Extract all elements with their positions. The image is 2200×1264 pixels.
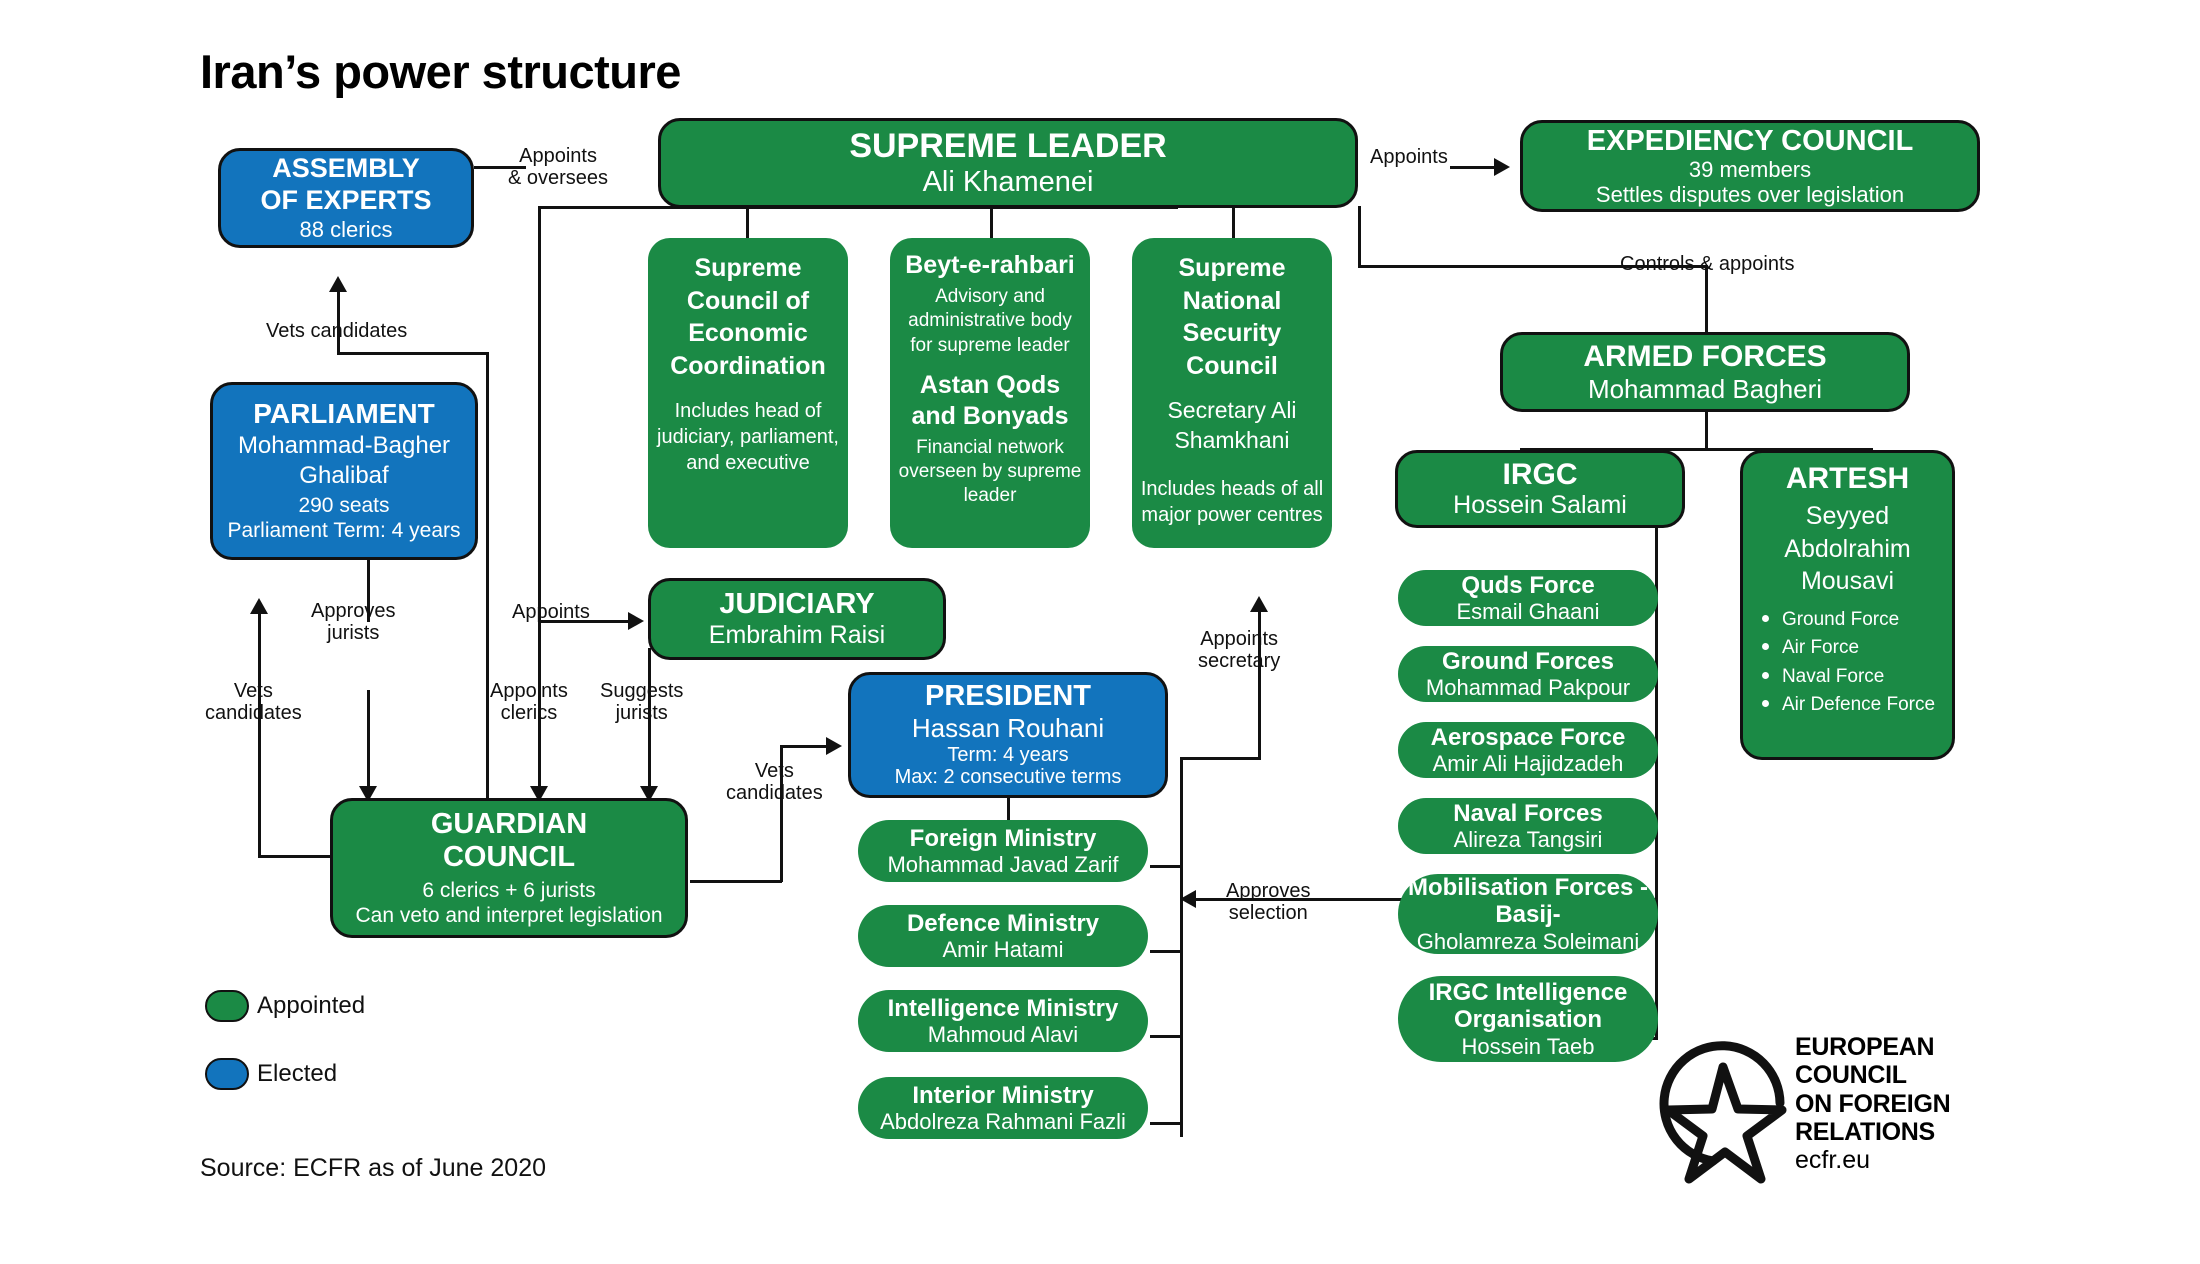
edge-line (1180, 757, 1183, 1137)
node-name: Embrahim Raisi (709, 622, 885, 649)
edge-label-appoints-expediency: Appoints (1370, 146, 1448, 168)
edge-arrow (1494, 158, 1510, 176)
node-title: Ground Forces (1442, 648, 1614, 676)
artesh-branch-item: Ground Force (1760, 606, 1935, 635)
node-name: Alireza Tangsiri (1454, 827, 1603, 852)
source-note: Source: ECFR as of June 2020 (200, 1154, 546, 1183)
node-detail-max: Max: 2 consecutive terms (895, 767, 1122, 789)
edge-arrow (329, 276, 347, 292)
node-name: Amir Hatami (942, 937, 1063, 962)
node-ministry[interactable]: Foreign MinistryMohammad Javad Zarif (858, 820, 1148, 882)
edge-line (746, 206, 749, 238)
node-title: JUDICIARY (719, 589, 874, 620)
edge-arrow (1250, 596, 1268, 612)
node-supreme-council-economic-coordination[interactable]: Supreme Council of Economic Coordination… (648, 238, 848, 548)
edge-arrow (628, 612, 644, 630)
edge-label-approves-jurists: Approvesjurists (311, 600, 396, 645)
node-title: Intelligence Ministry (888, 995, 1119, 1023)
edge-arrow (250, 598, 268, 614)
artesh-branch-item: Air Force (1760, 634, 1935, 663)
edge-line (1180, 757, 1260, 760)
node-title-secondary: Astan Qods and Bonyads (896, 370, 1084, 433)
edge-label-controls-appoints: Controls & appoints (1620, 253, 1795, 275)
node-name: Esmail Ghaani (1456, 599, 1599, 624)
edge-line (1150, 1035, 1182, 1038)
node-irgc-unit[interactable]: IRGC Intelligence OrganisationHossein Ta… (1398, 976, 1658, 1062)
node-detail-composition: 6 clerics + 6 jurists (422, 880, 595, 903)
node-irgc-unit[interactable]: Naval ForcesAlireza Tangsiri (1398, 798, 1658, 854)
edge-arrow (1180, 890, 1196, 908)
node-armed-forces[interactable]: ARMED FORCES Mohammad Bagheri (1500, 332, 1910, 412)
node-supreme-leader[interactable]: SUPREME LEADER Ali Khamenei (658, 118, 1358, 208)
node-judiciary[interactable]: JUDICIARY Embrahim Raisi (648, 578, 946, 660)
edge-label-vets-candidates-assembly: Vets candidates (266, 320, 407, 342)
node-detail-term: Term: 4 years (947, 745, 1068, 767)
node-title: IRGC (1503, 459, 1578, 491)
edge-line (367, 690, 370, 790)
node-title: Supreme Council of Economic Coordination (656, 252, 840, 382)
node-name: Abdolreza Rahmani Fazli (880, 1109, 1126, 1134)
node-title: ARMED FORCES (1583, 341, 1826, 373)
node-title: IRGC Intelligence Organisation (1406, 979, 1650, 1034)
edge-line (1705, 282, 1708, 332)
legend-item-elected: Elected (205, 1058, 337, 1090)
ecfr-wordmark: EUROPEAN COUNCIL ON FOREIGN RELATIONS ec… (1795, 1033, 1950, 1174)
edge-label-appoints-oversees: Appoints& oversees (508, 145, 608, 190)
node-name: Mohammad-Bagher Ghalibaf (213, 431, 475, 491)
ecfr-logo: EUROPEAN COUNCIL ON FOREIGN RELATIONS ec… (1655, 1025, 1985, 1200)
node-name: Mohammad Javad Zarif (887, 852, 1118, 877)
ecfr-url: ecfr.eu (1795, 1146, 1950, 1174)
node-title: Supreme National Security Council (1136, 252, 1328, 382)
node-ministry[interactable]: Intelligence MinistryMahmoud Alavi (858, 990, 1148, 1052)
node-name: Mohammad Bagheri (1588, 375, 1822, 403)
edge-label-approves-selection: Approvesselection (1226, 880, 1311, 925)
node-irgc-unit[interactable]: Aerospace ForceAmir Ali Hajidzadeh (1398, 722, 1658, 778)
node-title: PRESIDENT (925, 681, 1091, 712)
edge-line (990, 206, 993, 238)
node-beyt-e-rahbari[interactable]: Beyt-e-rahbari Advisory and administrati… (890, 238, 1090, 548)
ecfr-star-circle-icon (1655, 1025, 1795, 1185)
edge-label-appoints-secretary: Appointssecretary (1198, 628, 1280, 673)
artesh-branch-item: Naval Force (1760, 663, 1935, 692)
node-name: Mahmoud Alavi (928, 1022, 1078, 1047)
page-title: Iran’s power structure (200, 44, 681, 99)
node-irgc-unit[interactable]: Mobilisation Forces -Basij-Gholamreza So… (1398, 874, 1658, 954)
node-supreme-national-security-council[interactable]: Supreme National Security Council Secret… (1132, 238, 1332, 548)
node-title: EXPEDIENCY COUNCIL (1587, 126, 1914, 157)
node-title: SUPREME LEADER (849, 128, 1166, 165)
node-artesh[interactable]: ARTESH Seyyed Abdolrahim Mousavi Ground … (1740, 450, 1955, 760)
node-irgc[interactable]: IRGC Hossein Salami (1395, 450, 1685, 528)
edge-line (690, 880, 782, 883)
legend-item-appointed: Appointed (205, 990, 365, 1022)
artesh-branch-list: Ground ForceAir ForceNaval ForceAir Defe… (1760, 606, 1935, 720)
node-title: Quds Force (1461, 572, 1594, 600)
node-detail-members: 39 members (1689, 158, 1811, 182)
legend-swatch-elected (205, 1058, 249, 1090)
edge-line (1358, 206, 1361, 268)
legend-swatch-appointed (205, 990, 249, 1022)
ecfr-line4: RELATIONS (1795, 1118, 1950, 1146)
artesh-branch-item: Air Defence Force (1760, 691, 1935, 720)
node-title-line2: COUNCIL (443, 842, 575, 873)
node-title-line1: ASSEMBLY (272, 154, 420, 183)
legend-label-appointed: Appointed (257, 992, 365, 1020)
node-detail-role: Settles disputes over legislation (1596, 183, 1904, 207)
node-name: Mohammad Pakpour (1426, 675, 1630, 700)
node-detail: Includes head of judiciary, parliament, … (656, 398, 840, 476)
node-title: Naval Forces (1453, 800, 1602, 828)
node-guardian-council[interactable]: GUARDIAN COUNCIL 6 clerics + 6 jurists C… (330, 798, 688, 938)
node-expediency-council[interactable]: EXPEDIENCY COUNCIL 39 members Settles di… (1520, 120, 1980, 212)
edge-line (258, 810, 261, 858)
node-detail: Advisory and administrative body for sup… (896, 285, 1084, 357)
node-title: Foreign Ministry (910, 825, 1097, 853)
node-name: Seyyed Abdolrahim Mousavi (1749, 500, 1946, 598)
node-ministry[interactable]: Interior MinistryAbdolreza Rahmani Fazli (858, 1077, 1148, 1139)
node-title-line2: OF EXPERTS (260, 186, 431, 215)
node-detail: Includes heads of all major power centre… (1136, 476, 1328, 528)
edge-line (1705, 410, 1708, 450)
legend-label-elected: Elected (257, 1060, 337, 1088)
node-title: PARLIAMENT (253, 399, 434, 429)
node-president[interactable]: PRESIDENT Hassan Rouhani Term: 4 years M… (848, 672, 1168, 798)
node-ministry[interactable]: Defence MinistryAmir Hatami (858, 905, 1148, 967)
edge-line (1150, 1122, 1182, 1125)
node-parliament[interactable]: PARLIAMENT Mohammad-Bagher Ghalibaf 290 … (210, 382, 478, 560)
node-title: Interior Ministry (912, 1082, 1093, 1110)
node-name: Hossein Salami (1453, 492, 1627, 519)
node-detail: 88 clerics (300, 218, 393, 242)
node-title: Aerospace Force (1431, 724, 1626, 752)
node-detail-term: Parliament Term: 4 years (227, 520, 460, 543)
node-title: ARTESH (1786, 463, 1909, 495)
node-title: Defence Ministry (907, 910, 1099, 938)
node-name: Ali Khamenei (923, 167, 1094, 198)
node-name: Amir Ali Hajidzadeh (1433, 751, 1624, 776)
edge-line (1232, 206, 1235, 238)
node-assembly-of-experts[interactable]: ASSEMBLY OF EXPERTS 88 clerics (218, 148, 474, 248)
node-name: Gholamreza Soleimani (1417, 929, 1640, 954)
edge-line (1150, 950, 1182, 953)
edge-label-suggests-jurists: Suggestsjurists (600, 680, 683, 725)
node-title: Beyt-e-rahbari (905, 250, 1075, 281)
node-name: Hassan Rouhani (912, 714, 1104, 742)
edge-label-vets-candidates-parliament: Vetscandidates (205, 680, 302, 725)
ecfr-line1: EUROPEAN (1795, 1033, 1950, 1061)
edge-label-appoints-judiciary: Appoints (512, 601, 590, 623)
edge-line (1007, 798, 1010, 820)
edge-line (337, 352, 489, 355)
edge-line (258, 855, 336, 858)
ecfr-line3: ON FOREIGN (1795, 1090, 1950, 1118)
node-name: Secretary Ali Shamkhani (1136, 396, 1328, 456)
node-detail-secondary: Financial network overseen by supreme le… (896, 436, 1084, 508)
ecfr-line2: COUNCIL (1795, 1061, 1950, 1089)
edge-label-appoints-clerics: Appointsclerics (490, 680, 568, 725)
diagram-canvas: Iran’s power structure (0, 0, 2200, 1264)
node-detail-power: Can veto and interpret legislation (355, 905, 662, 928)
node-title-line1: GUARDIAN (431, 809, 587, 840)
node-detail-seats: 290 seats (298, 495, 389, 518)
edge-arrow (826, 737, 842, 755)
node-title: Mobilisation Forces -Basij- (1406, 874, 1650, 929)
node-irgc-unit[interactable]: Ground ForcesMohammad Pakpour (1398, 646, 1658, 702)
edge-label-vets-candidates-president: Vetscandidates (726, 760, 823, 805)
edge-line (486, 352, 489, 818)
node-name: Hossein Taeb (1462, 1034, 1595, 1059)
node-irgc-unit[interactable]: Quds ForceEsmail Ghaani (1398, 570, 1658, 626)
edge-line (1150, 865, 1182, 868)
